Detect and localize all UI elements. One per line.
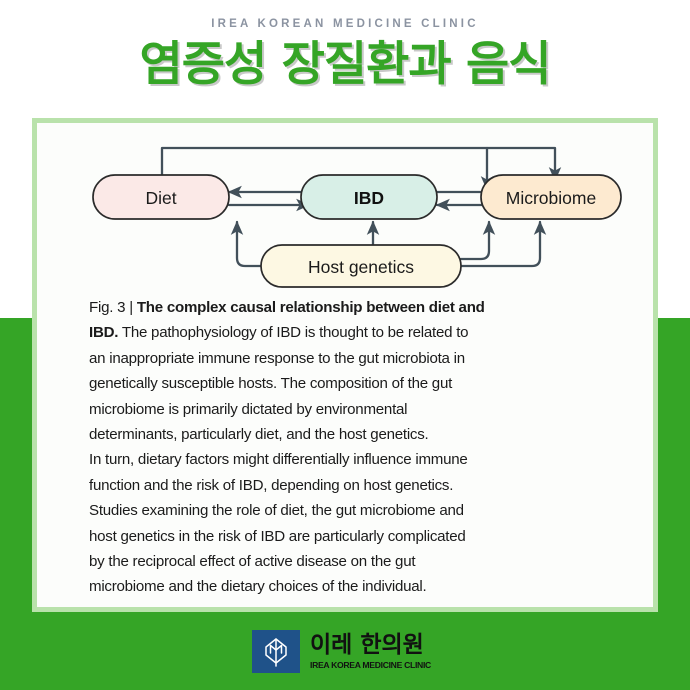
caption-bold: IBD.	[89, 324, 118, 341]
caption-line: by the reciprocal effect of active disea…	[89, 549, 609, 574]
caption-line: genetically susceptible hosts. The compo…	[89, 371, 609, 396]
figure-caption: Fig. 3 | The complex causal relationship…	[89, 295, 609, 600]
clinic-logo-text: 이레 한의원 IREA KOREA MEDICINE CLINIC	[310, 633, 431, 669]
caption-line: function and the risk of IBD, depending …	[89, 473, 609, 498]
node-diet[interactable]: Diet	[93, 175, 229, 219]
clinic-name-korean: 이레 한의원	[310, 633, 431, 657]
clinic-logo[interactable]: 이레 한의원 IREA KOREA MEDICINE CLINIC	[252, 630, 431, 673]
node-ibd-label: IBD	[354, 188, 384, 208]
caption-line: Fig. 3 | The complex causal relationship…	[89, 295, 609, 320]
caption-line: host genetics in the risk of IBD are par…	[89, 524, 609, 549]
node-microbiome-label: Microbiome	[506, 188, 596, 208]
node-ibd[interactable]: IBD	[301, 175, 437, 219]
node-host-genetics-label: Host genetics	[308, 257, 414, 277]
poster-footer: 이레 한의원 IREA KOREA MEDICINE CLINIC	[0, 612, 690, 690]
node-diet-label: Diet	[145, 188, 176, 208]
clinic-eyebrow-text: IREA KOREAN MEDICINE CLINIC	[0, 0, 690, 30]
caption-line: an inappropriate immune response to the …	[89, 346, 609, 371]
causal-diagram: Diet IBD Microbiome Host genetics	[37, 123, 653, 289]
caption-figure-label: Fig. 3 |	[89, 299, 137, 316]
caption-line: determinants, particularly diet, and the…	[89, 422, 609, 447]
poster-header: IREA KOREAN MEDICINE CLINIC 염증성 장질환과 음식	[0, 0, 690, 118]
figure-card: Diet IBD Microbiome Host genetics	[32, 118, 658, 612]
caption-line: In turn, dietary factors might different…	[89, 447, 609, 472]
caption-bold: The complex causal relationship between …	[137, 299, 485, 316]
edge-host-inner-up	[461, 222, 489, 259]
figure-card-inner: Diet IBD Microbiome Host genetics	[37, 123, 653, 607]
clinic-name-english: IREA KOREA MEDICINE CLINIC	[310, 660, 431, 670]
caption-line: Studies examining the role of diet, the …	[89, 498, 609, 523]
caption-line: IBD. The pathophysiology of IBD is thoug…	[89, 320, 609, 345]
poster-canvas: IREA KOREAN MEDICINE CLINIC 염증성 장질환과 음식	[0, 0, 690, 690]
node-microbiome[interactable]: Microbiome	[481, 175, 621, 219]
page-title: 염증성 장질환과 음식	[0, 30, 690, 95]
caption-line: microbiome and the dietary choices of th…	[89, 574, 609, 599]
node-host-genetics[interactable]: Host genetics	[261, 245, 461, 287]
caption-text: The pathophysiology of IBD is thought to…	[118, 324, 468, 341]
caption-line: microbiome is primarily dictated by envi…	[89, 397, 609, 422]
tulip-leaf-icon	[252, 630, 300, 673]
